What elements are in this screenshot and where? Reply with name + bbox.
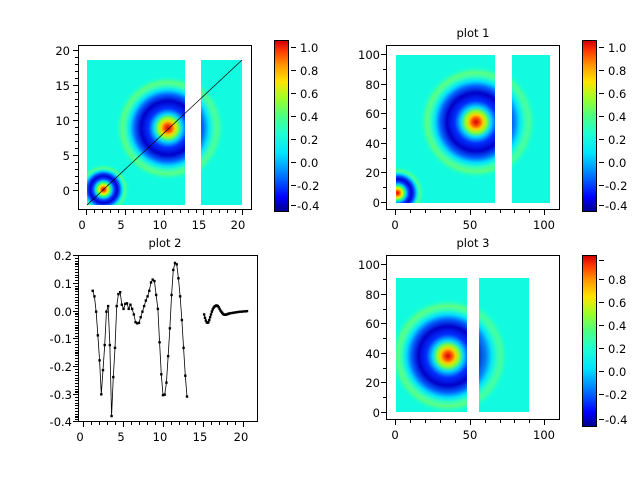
plot-2-marker (179, 295, 181, 297)
plot-0-cbar-tick (291, 70, 296, 71)
plot-2-marker (150, 281, 152, 283)
plot-1-cbar-tick (599, 205, 604, 206)
plot-3-ytickmark (381, 264, 386, 265)
plot-2-ytickmark (73, 366, 78, 367)
plot-2-ytickmark (73, 421, 78, 422)
plot-1-cbar-label-0.2: 0.2 (608, 133, 626, 147)
plot-2-marker (126, 302, 128, 304)
plot-0-xminortick (227, 210, 228, 213)
plot-3-ytickmark (381, 412, 386, 413)
plot-0-xminortick (180, 210, 181, 213)
plot-3-xminortick (485, 420, 486, 423)
plot-2-yminortick (75, 272, 78, 273)
plot-2-xminortick (187, 422, 188, 425)
plot-1-ytickmark (381, 84, 386, 85)
plot-2-yminortick (75, 286, 78, 287)
plot-0-ytickmark (73, 50, 78, 51)
plot-2-yminortick (75, 397, 78, 398)
plot-1-title: plot 1 (386, 26, 560, 40)
plot-2-yminortick (75, 352, 78, 353)
plot-2-yminortick (75, 297, 78, 298)
plot-2-marker (138, 322, 140, 324)
plot-3-yminortick (383, 368, 386, 369)
plot-1-cbar-label-1.0: 1.0 (608, 41, 626, 55)
plot-2-yminortick (75, 305, 78, 306)
plot-1-cbar-label--0.4: -0.4 (605, 199, 627, 213)
plot-1-xminortick (500, 210, 501, 213)
plot-2-marker (170, 294, 172, 296)
plot-3-xminortick (440, 420, 441, 423)
plot-2-marker (116, 305, 118, 307)
plot-1-xtick-100: 100 (528, 218, 560, 232)
plot-2-xtick-20: 20 (230, 430, 252, 444)
plot-0-xminortick (102, 210, 103, 213)
plot-2-yminortick (75, 344, 78, 345)
plot-2-xtickmark (83, 422, 84, 427)
plot-0-colorbar (274, 40, 289, 212)
plot-0-xminortick (149, 210, 150, 213)
plot-2-marker (109, 344, 111, 346)
plot-2-xtick-0: 0 (70, 430, 90, 444)
plot-1-ytickmark (381, 172, 386, 173)
plot-1-xminortick (514, 210, 515, 213)
plot-2-line (93, 263, 187, 416)
plot-0-yminortick (75, 169, 78, 170)
plot-0-ytick-10: 10 (42, 114, 70, 128)
plot-1-xminortick (440, 210, 441, 213)
plot-0-xtickmark (125, 210, 126, 215)
plot-2-ytickmark (73, 394, 78, 395)
plot-0-cbar-label-0.2: 0.2 (300, 133, 318, 147)
plot-2-yminortick (75, 277, 78, 278)
plot-3-xtickmark (470, 420, 471, 425)
plot-0-xminortick (219, 210, 220, 213)
plot-2-marker (100, 393, 102, 395)
plot-2-xminortick (99, 422, 100, 425)
plot-3-axes (386, 255, 560, 420)
plot-2-xminortick (235, 422, 236, 425)
figure-canvas: 20 15 10 5 0 0 5 10 15 20 (0, 0, 640, 480)
plot-0-xtick-5: 5 (111, 218, 131, 232)
plot-2-ytickmark (73, 338, 78, 339)
plot-2-marker (246, 310, 248, 312)
plot-2-yminortick (75, 333, 78, 334)
plot-1-cbar-label--0.2: -0.2 (605, 179, 627, 193)
plot-2-ytick--0.1: -0.1 (32, 332, 72, 346)
plot-0-xminortick (172, 210, 173, 213)
plot-1-colorbar (582, 40, 597, 212)
plot-2-ytick--0.4: -0.4 (32, 415, 72, 429)
plot-3-cbar-label--0.4: -0.4 (605, 413, 627, 427)
plot-2-xminortick (211, 422, 212, 425)
plot-0-xtick-20: 20 (228, 218, 248, 232)
plot-2-yminortick (75, 416, 78, 417)
plot-0-ytickmark (73, 120, 78, 121)
plot-2-marker (107, 305, 109, 307)
plot-0-cbar-tick (291, 162, 296, 163)
plot-2-marker (128, 308, 130, 310)
plot-2-yminortick (75, 336, 78, 337)
plot-2-ytick--0.3: -0.3 (32, 388, 72, 402)
plot-0-xtickmark (203, 210, 204, 215)
plot-2-yminortick (75, 364, 78, 365)
plot-2-yminortick (75, 302, 78, 303)
subplot-top-right: plot 1 100 80 60 40 20 0 (320, 0, 640, 240)
plot-1-ytickmark (381, 113, 386, 114)
plot-2-yminortick (75, 358, 78, 359)
plot-3-colorbar (582, 255, 597, 427)
plot-0-cbar-tick (291, 185, 296, 186)
plot-2-marker (131, 308, 133, 310)
plot-0-cbar-tick (291, 205, 296, 206)
plot-0-xtickmark (164, 210, 165, 215)
plot-1-cbar-tick (599, 47, 604, 48)
plot-2-marker (160, 373, 162, 375)
plot-0-yminortick (75, 141, 78, 142)
plot-0-xminortick (196, 210, 197, 213)
plot-3-xtick-100: 100 (528, 428, 560, 442)
plot-1-cbar-tick (599, 185, 604, 186)
plot-1-image-layer (387, 46, 560, 210)
plot-2-marker (119, 291, 121, 293)
plot-1-xminortick (425, 210, 426, 213)
plot-0-xminortick (118, 210, 119, 213)
plot-0-yminortick (75, 99, 78, 100)
plot-3-yminortick (383, 338, 386, 339)
plot-2-xtickmark (123, 422, 124, 427)
plot-2-xtick-10: 10 (149, 430, 171, 444)
plot-2-marker (110, 415, 112, 417)
plot-3-cbar-tick (599, 394, 604, 395)
plot-3-yminortick (383, 309, 386, 310)
plot-0-xtick-15: 15 (189, 218, 209, 232)
plot-1-cbar-tick (599, 93, 604, 94)
plot-2-xminortick (91, 422, 92, 425)
plot-1-xtick-0: 0 (385, 218, 405, 232)
plot-0-image-layer (79, 46, 252, 210)
plot-3-title: plot 3 (386, 236, 560, 250)
plot-3-ytick-80: 80 (342, 288, 380, 302)
plot-2-yminortick (75, 313, 78, 314)
plot-2-yminortick (75, 350, 78, 351)
plot-2-axes (78, 255, 258, 422)
plot-3-yminortick (383, 279, 386, 280)
plot-2-marker (122, 308, 124, 310)
plot-2-yminortick (75, 261, 78, 262)
plot-2-yminortick (75, 391, 78, 392)
plot-0-yminortick (75, 78, 78, 79)
plot-3-cbar-label-0.0: 0.0 (608, 365, 626, 379)
plot-2-xminortick (179, 422, 180, 425)
plot-0-yminortick (75, 57, 78, 58)
plot-2-xtickmark (243, 422, 244, 427)
plot-2-yminortick (75, 322, 78, 323)
plot-2-ytick-0.1: 0.1 (36, 277, 72, 291)
plot-2-yminortick (75, 372, 78, 373)
plot-2-marker (184, 374, 186, 376)
plot-3-xtick-0: 0 (385, 428, 405, 442)
plot-0-ytick-15: 15 (42, 79, 70, 93)
plot-0-xminortick (133, 210, 134, 213)
plot-3-cbar-tick (599, 260, 604, 261)
plot-2-marker (140, 316, 142, 318)
plot-2-xtickmark (163, 422, 164, 427)
plot-2-marker (155, 294, 157, 296)
plot-0-ytick-20: 20 (42, 44, 70, 58)
plot-2-marker (145, 299, 147, 301)
plot-1-xtickmark (395, 210, 396, 215)
plot-2-xminortick (115, 422, 116, 425)
plot-2-ytickmark (73, 255, 78, 256)
plot-1-yminortick (383, 158, 386, 159)
plot-0-xtick-0: 0 (72, 218, 92, 232)
plot-2-ytickmark (73, 283, 78, 284)
plot-2-marker (186, 395, 188, 397)
plot-0-yminortick (75, 127, 78, 128)
plot-0-cbar-label-0.0: 0.0 (300, 156, 318, 170)
plot-2-yminortick (75, 275, 78, 276)
plot-0-yminortick (75, 183, 78, 184)
plot-2-xtick-15: 15 (189, 430, 211, 444)
plot-2-xminortick (171, 422, 172, 425)
plot-2-yminortick (75, 378, 78, 379)
plot-1-cbar-label-0.6: 0.6 (608, 87, 626, 101)
plot-2-xtick-5: 5 (111, 430, 131, 444)
plot-2-ytickmark (73, 311, 78, 312)
plot-0-yminortick (75, 64, 78, 65)
plot-3-cbar-label-0.8: 0.8 (608, 273, 626, 287)
plot-2-yminortick (75, 414, 78, 415)
plot-2-yminortick (75, 319, 78, 320)
plot-2-xtickmark (203, 422, 204, 427)
plot-2-yminortick (75, 288, 78, 289)
plot-1-axes (386, 45, 560, 210)
plot-2-yminortick (75, 280, 78, 281)
plot-0-ytickmark (73, 155, 78, 156)
plot-1-xminortick (485, 210, 486, 213)
plot-2-marker (129, 304, 131, 306)
plot-2-xminortick (107, 422, 108, 425)
plot-0-ytickmark (73, 85, 78, 86)
plot-2-marker (141, 310, 143, 312)
plot-3-yminortick (383, 397, 386, 398)
plot-1-yminortick (383, 99, 386, 100)
plot-3-ytick-100: 100 (342, 258, 380, 272)
plot-2-marker (104, 344, 106, 346)
plot-3-cbar-tick (599, 325, 604, 326)
plot-1-yminortick (383, 187, 386, 188)
plot-0-xtickmark (86, 210, 87, 215)
plot-2-marker (204, 317, 206, 319)
plot-1-ytickmark (381, 54, 386, 55)
plot-1-yminortick (383, 69, 386, 70)
plot-2-marker (92, 290, 94, 292)
plot-2-marker (133, 313, 135, 315)
plot-0-cbar-label-1.0: 1.0 (300, 41, 318, 55)
plot-2-yminortick (75, 341, 78, 342)
plot-2-marker (209, 316, 211, 318)
plot-2-marker (211, 310, 213, 312)
plot-2-marker (148, 290, 150, 292)
plot-2-marker (112, 376, 114, 378)
plot-0-ytick-0: 0 (42, 184, 70, 198)
plot-0-xtick-10: 10 (150, 218, 170, 232)
plot-2-yminortick (75, 380, 78, 381)
plot-1-cbar-tick (599, 162, 604, 163)
plot-2-yminortick (75, 347, 78, 348)
plot-2-marker (97, 334, 99, 336)
plot-2-marker (95, 310, 97, 312)
plot-3-xminortick (455, 420, 456, 423)
plot-2-xminortick (195, 422, 196, 425)
plot-2-marker (105, 310, 107, 312)
plot-2-yminortick (75, 419, 78, 420)
plot-2-marker (114, 347, 116, 349)
plot-2-xminortick (147, 422, 148, 425)
plot-3-xminortick (529, 420, 530, 423)
plot-0-cbar-label--0.4: -0.4 (297, 199, 319, 213)
plot-2-marker (210, 313, 212, 315)
plot-2-ytick--0.2: -0.2 (32, 360, 72, 374)
plot-1-cbar-tick (599, 70, 604, 71)
plot-3-cbar-label-0.6: 0.6 (608, 296, 626, 310)
plot-2-xminortick (139, 422, 140, 425)
plot-2-marker (164, 393, 166, 395)
plot-0-yminortick (75, 113, 78, 114)
plot-3-cbar-tick (599, 371, 604, 372)
plot-3-ytickmark (381, 323, 386, 324)
plot-1-cbar-tick (599, 139, 604, 140)
plot-3-cbar-tick (599, 419, 604, 420)
plot-2-yminortick (75, 408, 78, 409)
plot-2-yminortick (75, 266, 78, 267)
plot-2-ytick-0.2: 0.2 (36, 249, 72, 263)
plot-2-xminortick (227, 422, 228, 425)
plot-3-xtickmark (395, 420, 396, 425)
plot-3-xminortick (410, 420, 411, 423)
plot-2-yminortick (75, 291, 78, 292)
plot-2-yminortick (75, 269, 78, 270)
plot-2-marker (167, 355, 169, 357)
plot-0-xminortick (94, 210, 95, 213)
plot-0-xminortick (110, 210, 111, 213)
plot-3-cbar-label--0.2: -0.2 (605, 388, 627, 402)
plot-2-marker (158, 341, 160, 343)
plot-2-yminortick (75, 405, 78, 406)
plot-3-cbar-label-0.2: 0.2 (608, 342, 626, 356)
plot-0-xminortick (211, 210, 212, 213)
plot-1-xtick-50: 50 (458, 218, 482, 232)
plot-3-ytickmark (381, 382, 386, 383)
plot-1-xminortick (410, 210, 411, 213)
plot-2-marker (143, 305, 145, 307)
plot-2-yminortick (75, 316, 78, 317)
plot-2-marker (102, 369, 104, 371)
plot-2-yminortick (75, 386, 78, 387)
plot-2-marker (153, 280, 155, 282)
plot-0-yminortick (75, 71, 78, 72)
plot-2-marker (182, 347, 184, 349)
plot-1-ytick-80: 80 (342, 78, 380, 92)
plot-1-ytick-0: 0 (342, 196, 380, 210)
plot-2-yminortick (75, 355, 78, 356)
plot-2-marker (207, 321, 209, 323)
plot-2-yminortick (75, 258, 78, 259)
plot-0-yminortick (75, 162, 78, 163)
plot-2-xminortick (155, 422, 156, 425)
subplot-bottom-left: plot 2 0.2 0.1 0.0 -0.1 -0.2 -0.3 -0.4 0… (0, 240, 320, 480)
plot-0-cbar-tick (291, 47, 296, 48)
subplot-bottom-right: plot 3 100 80 60 40 20 0 (320, 240, 640, 480)
plot-2-yminortick (75, 369, 78, 370)
plot-1-xtickmark (544, 210, 545, 215)
plot-1-ytick-100: 100 (342, 48, 380, 62)
plot-0-cbar-label--0.2: -0.2 (297, 179, 319, 193)
plot-2-marker (121, 304, 123, 306)
plot-1-xminortick (529, 210, 530, 213)
plot-3-ytickmark (381, 294, 386, 295)
plot-2-yminortick (75, 330, 78, 331)
plot-2-marker (93, 295, 95, 297)
plot-3-xminortick (425, 420, 426, 423)
plot-3-image-layer (387, 256, 560, 420)
plot-1-ytick-20: 20 (342, 166, 380, 180)
plot-0-cbar-tick (291, 139, 296, 140)
plot-3-cbar-tick (599, 348, 604, 349)
plot-2-marker (203, 313, 205, 315)
plot-3-ytick-40: 40 (342, 347, 380, 361)
plot-0-yminortick (75, 134, 78, 135)
plot-2-yminortick (75, 411, 78, 412)
plot-2-yminortick (75, 325, 78, 326)
plot-2-yminortick (75, 403, 78, 404)
plot-1-xtickmark (470, 210, 471, 215)
plot-2-yminortick (75, 400, 78, 401)
plot-1-xminortick (455, 210, 456, 213)
plot-2-marker (208, 319, 210, 321)
plot-0-cbar-label-0.8: 0.8 (300, 64, 318, 78)
plot-0-yminortick (75, 148, 78, 149)
plot-3-xminortick (500, 420, 501, 423)
plot-1-ytick-60: 60 (342, 107, 380, 121)
plot-2-yminortick (75, 383, 78, 384)
plot-1-cbar-label-0.4: 0.4 (608, 110, 626, 124)
plot-2-ytick-0.0: 0.0 (36, 305, 72, 319)
plot-2-xminortick (219, 422, 220, 425)
plot-0-yminortick (75, 176, 78, 177)
plot-0-cbar-label-0.6: 0.6 (300, 87, 318, 101)
plot-2-yminortick (75, 300, 78, 301)
plot-1-cbar-tick (599, 116, 604, 117)
plot-2-yminortick (75, 327, 78, 328)
plot-1-cbar-label-0.0: 0.0 (608, 156, 626, 170)
plot-2-marker (157, 308, 159, 310)
plot-3-xtickmark (544, 420, 545, 425)
plot-0-axes (78, 45, 252, 210)
plot-0-yminortick (75, 92, 78, 93)
plot-0-cbar-tick (291, 116, 296, 117)
plot-1-cbar-label-0.8: 0.8 (608, 64, 626, 78)
plot-0-xtickmark (242, 210, 243, 215)
plot-2-yminortick (75, 361, 78, 362)
plot-0-xminortick (188, 210, 189, 213)
plot-2-yminortick (75, 308, 78, 309)
plot-0-yminortick (75, 106, 78, 107)
plot-2-marker (146, 295, 148, 297)
plot-2-marker (181, 319, 183, 321)
plot-3-ytick-20: 20 (342, 376, 380, 390)
plot-2-marker (172, 269, 174, 271)
